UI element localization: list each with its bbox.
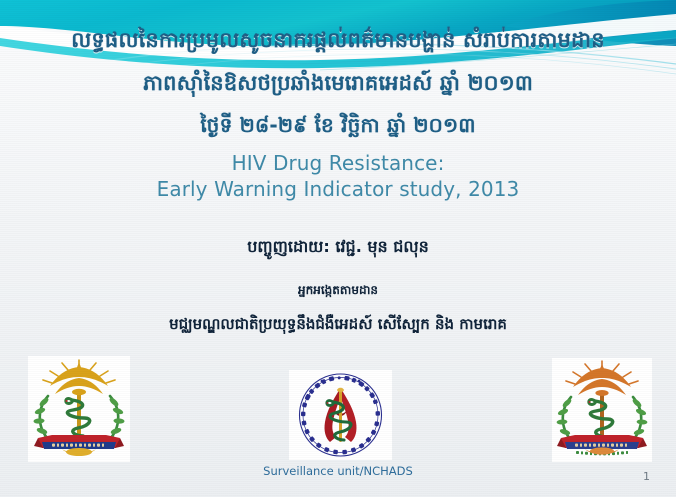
- ministry-of-health-emblem-left-logo: [28, 356, 130, 462]
- english-subtitle-line-1: HIV Drug Resistance:: [0, 150, 676, 176]
- english-subtitle-line-2: Early Warning Indicator study, 2013: [0, 176, 676, 202]
- organization-name: មជ្ឈមណ្ឌលជាតិប្រយុទ្ធនឹងជំងឺអេដស៍ សើស្បែ…: [0, 313, 676, 335]
- slide-number: 1: [643, 470, 650, 484]
- nchads-logo: [289, 370, 392, 460]
- presenter-role: អ្នកអង្កេតតាមដាន: [0, 281, 676, 299]
- khmer-title-line-2: ភាពស៊ាំនៃឱសថប្រឆាំងមេរោគអេដស៍ ឆ្នាំ ២០១៣: [0, 70, 676, 96]
- footer-unit-label: Surveillance unit/NCHADS: [0, 464, 676, 479]
- ministry-of-health-emblem-right-logo: [552, 358, 652, 462]
- khmer-title-line-1: លទ្ធផលនៃការប្រមូលសូចនាករផ្តល់ពត៌មានបង្ហា…: [0, 27, 676, 53]
- english-subtitle: HIV Drug Resistance: Early Warning Indic…: [0, 150, 676, 202]
- decorative-wave-banner: [0, 0, 676, 120]
- presentation-slide: លទ្ធផលនៃការប្រមូលសូចនាករផ្តល់ពត៌មានបង្ហា…: [0, 0, 676, 497]
- khmer-date-line: ថ្ងៃទី ២៨-២៩ ខែ វិច្ឆិកា ឆ្នាំ ២០១៣: [0, 112, 676, 138]
- presenter-name: បញ្ចូញដោយ: វេជ្ជ. មុន ជលុន: [0, 236, 676, 258]
